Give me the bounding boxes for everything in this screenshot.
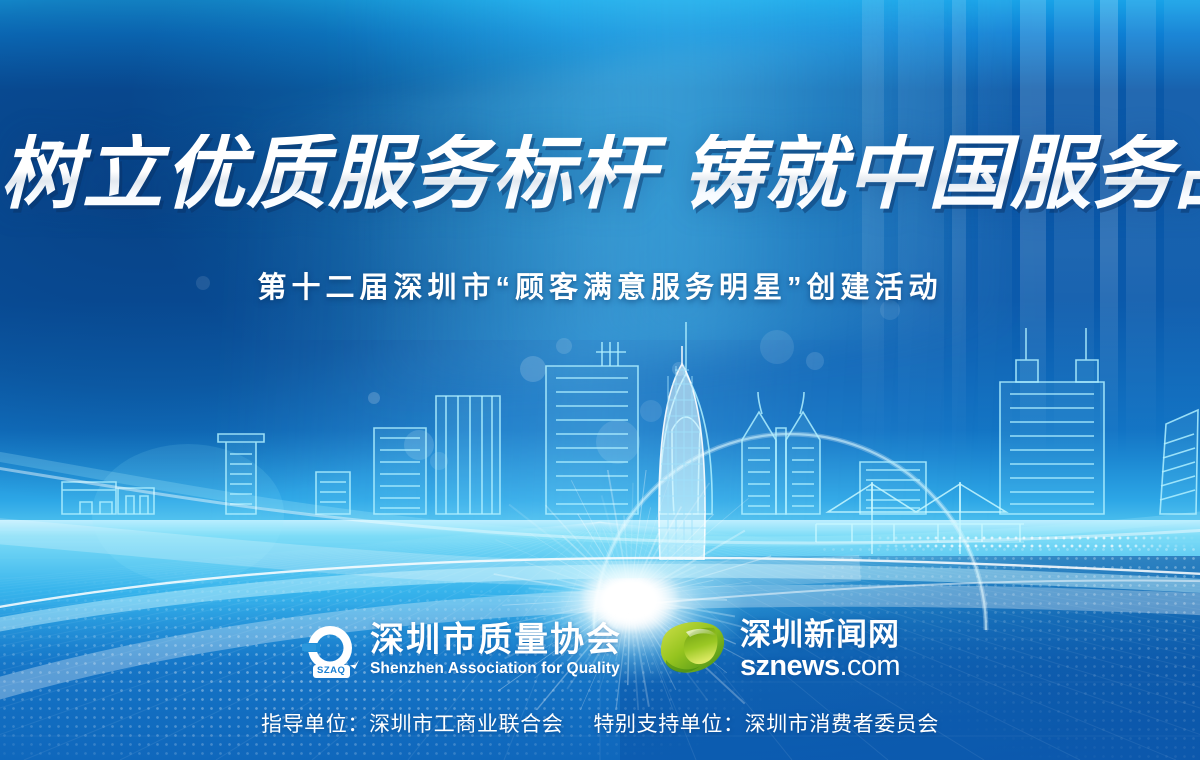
footer-credits: 指导单位：深圳市工商业联合会特别支持单位：深圳市消费者委员会 [0, 708, 1200, 738]
headline-part-2: 铸就中国服务品牌 [682, 129, 1200, 219]
szaq-badge-label: SZAQ [313, 665, 350, 678]
szaq-name-en: Shenzhen Association for Quality [370, 661, 622, 677]
logo-row: SZAQ 深圳市质量协会 Shenzhen Association for Qu… [0, 618, 1200, 682]
sznews-name-en: sznews.com [740, 652, 900, 681]
logo-sznews[interactable]: 深圳新闻网 sznews.com [656, 619, 900, 681]
support-label: 特别支持单位： [593, 713, 744, 736]
support-org: 深圳市消费者委员会 [745, 713, 939, 736]
page-title: 树立优质服务标杆铸就中国服务品牌 [0, 134, 1200, 215]
sznews-name-cn: 深圳新闻网 [740, 619, 900, 650]
sznews-domain: .com [840, 650, 900, 682]
promo-banner: 树立优质服务标杆铸就中国服务品牌 第十二届深圳市“顾客满意服务明星”创建活动 S… [0, 0, 1200, 760]
szaq-ring-icon: SZAQ [300, 621, 360, 679]
guidance-org: 深圳市工商业联合会 [369, 713, 563, 736]
headline-part-1: 树立优质服务标杆 [0, 129, 656, 219]
green-leaf-icon [656, 620, 728, 680]
logo-szaq[interactable]: SZAQ 深圳市质量协会 Shenzhen Association for Qu… [300, 621, 622, 679]
szaq-name-cn: 深圳市质量协会 [370, 623, 622, 657]
guidance-label: 指导单位： [261, 713, 369, 736]
page-subtitle: 第十二届深圳市“顾客满意服务明星”创建活动 [0, 264, 1200, 306]
